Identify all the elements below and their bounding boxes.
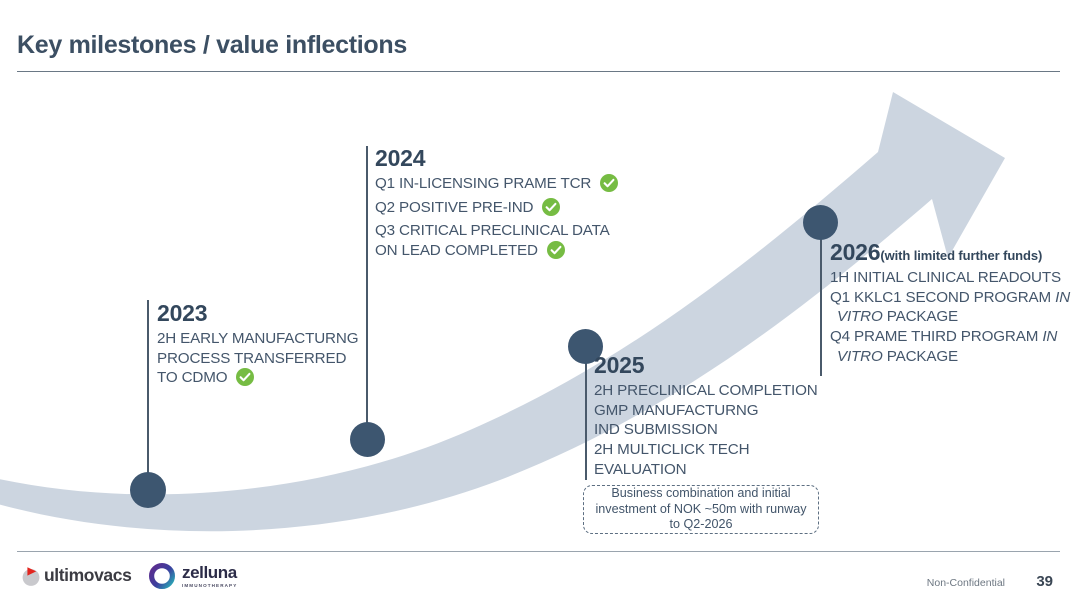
milestone-line-text: TO CDMO (157, 369, 227, 386)
milestone-content: 2026(with limited further funds) 1H INIT… (830, 240, 1070, 366)
milestone-lines: Q1 IN-LICENSING PRAME TCR Q2 POSITIVE PR… (375, 174, 618, 264)
zelluna-tagline: IMMUNOTHERAPY (182, 583, 237, 588)
milestone-line-text: Q4 PRAME THIRD PROGRAM (830, 328, 1042, 345)
milestone-line-text: Q1 IN-LICENSING PRAME TCR (375, 175, 591, 192)
milestone-year-label: 2025 (594, 352, 644, 378)
milestone-line: 2H MULTICLICK TECH (594, 440, 818, 460)
milestone-line: Q1 IN-LICENSING PRAME TCR (375, 174, 618, 198)
page-number: 39 (1036, 573, 1053, 590)
milestone-line: 2H EARLY MANUFACTURNG (157, 329, 358, 349)
milestone-line: TO CDMO (157, 368, 358, 392)
funding-callout-box: Business combination and initial investm… (583, 485, 819, 534)
callout-line: Business combination and initial (611, 486, 790, 501)
confidentiality-label: Non-Confidential (927, 577, 1005, 589)
milestone-stem (366, 146, 368, 442)
milestone-line-text: 2H PRECLINICAL COMPLETION (594, 382, 818, 399)
milestone-year: 2025 (594, 353, 818, 377)
footer-divider (17, 551, 1060, 552)
milestone-line-text: IND SUBMISSION (594, 421, 718, 438)
milestone-dot (803, 205, 838, 240)
milestone-lines: 2H EARLY MANUFACTURNG PROCESS TRANSFERRE… (157, 329, 358, 392)
milestone-line-emphasis: IN (1055, 289, 1070, 306)
callout-line: investment of NOK ~50m with runway (595, 502, 806, 517)
milestone-year-label: 2023 (157, 300, 207, 326)
milestone-line: ON LEAD COMPLETED (375, 241, 618, 265)
milestone-line: PROCESS TRANSFERRED (157, 349, 358, 369)
zelluna-ring-icon (149, 563, 175, 589)
milestone-content: 2023 2H EARLY MANUFACTURNG PROCESS TRANS… (157, 301, 358, 392)
milestone-year-label: 2024 (375, 145, 425, 171)
milestone-line-text: ON LEAD COMPLETED (375, 242, 538, 259)
milestone-stem (585, 352, 587, 480)
milestone-content: 2025 2H PRECLINICAL COMPLETION GMP MANUF… (594, 353, 818, 479)
header-divider (17, 71, 1060, 72)
check-complete-icon (542, 198, 560, 222)
milestone-year: 2023 (157, 301, 358, 325)
milestone-line-emphasis: VITRO (837, 308, 883, 325)
milestone-line-text: PROCESS TRANSFERRED (157, 350, 346, 367)
check-complete-icon (547, 241, 565, 265)
milestone-year: 2024 (375, 146, 618, 170)
milestone-line-text: PACKAGE (883, 308, 958, 325)
milestone-content: 2024 Q1 IN-LICENSING PRAME TCR Q2 POSITI… (375, 146, 618, 265)
milestone-line-text: 2H EARLY MANUFACTURNG (157, 330, 358, 347)
page-title: Key milestones / value inflections (17, 31, 407, 60)
logo-ultimovacs: ultimovacs (20, 565, 131, 587)
zelluna-text-block: zelluna IMMUNOTHERAPY (182, 564, 237, 588)
milestone-line: Q4 PRAME THIRD PROGRAM IN (830, 327, 1070, 347)
milestone-stem (820, 230, 822, 376)
milestone-line-text: Q2 POSITIVE PRE-IND (375, 199, 533, 216)
milestone-line-text: GMP MANUFACTURNG (594, 402, 758, 419)
callout-line: to Q2-2026 (669, 517, 732, 532)
milestone-year-note: (with limited further funds) (880, 248, 1042, 263)
milestone-lines: 2H PRECLINICAL COMPLETION GMP MANUFACTUR… (594, 381, 818, 479)
slide-canvas: Key milestones / value inflections 2023 … (0, 0, 1077, 605)
ultimovacs-mark-icon (20, 565, 42, 587)
milestone-line-text: 2H MULTICLICK TECH (594, 441, 749, 458)
milestone-line: VITRO PACKAGE (830, 307, 1070, 327)
milestone-line: Q3 CRITICAL PRECLINICAL DATA (375, 221, 618, 241)
milestone-year-label: 2026 (830, 239, 880, 265)
milestone-dot (350, 422, 385, 457)
check-complete-icon (600, 174, 618, 198)
milestone-line-text: PACKAGE (883, 348, 958, 365)
milestone-line: EVALUATION (594, 460, 818, 480)
milestone-line: VITRO PACKAGE (830, 347, 1070, 367)
milestone-lines: 1H INITIAL CLINICAL READOUTS Q1 KKLC1 SE… (830, 268, 1070, 366)
milestone-line-emphasis: IN (1042, 328, 1057, 345)
milestone-line: Q2 POSITIVE PRE-IND (375, 198, 618, 222)
milestone-line: GMP MANUFACTURNG (594, 401, 818, 421)
milestone-stem (147, 300, 149, 492)
milestone-line: Q1 KKLC1 SECOND PROGRAM IN (830, 288, 1070, 308)
logo-zelluna: zelluna IMMUNOTHERAPY (149, 563, 237, 589)
milestone-line-text: Q1 KKLC1 SECOND PROGRAM (830, 289, 1055, 306)
check-complete-icon (236, 368, 254, 392)
milestone-line: 2H PRECLINICAL COMPLETION (594, 381, 818, 401)
milestone-line-emphasis: VITRO (837, 348, 883, 365)
ultimovacs-wordmark: ultimovacs (44, 567, 131, 585)
milestone-line-text: Q3 CRITICAL PRECLINICAL DATA (375, 222, 610, 239)
milestone-year: 2026(with limited further funds) (830, 240, 1070, 264)
milestone-dot (130, 472, 166, 508)
milestone-line-text: 1H INITIAL CLINICAL READOUTS (830, 269, 1061, 286)
zelluna-wordmark: zelluna (182, 564, 237, 581)
milestone-line: IND SUBMISSION (594, 420, 818, 440)
milestone-line-text: EVALUATION (594, 461, 686, 478)
milestone-line: 1H INITIAL CLINICAL READOUTS (830, 268, 1070, 288)
